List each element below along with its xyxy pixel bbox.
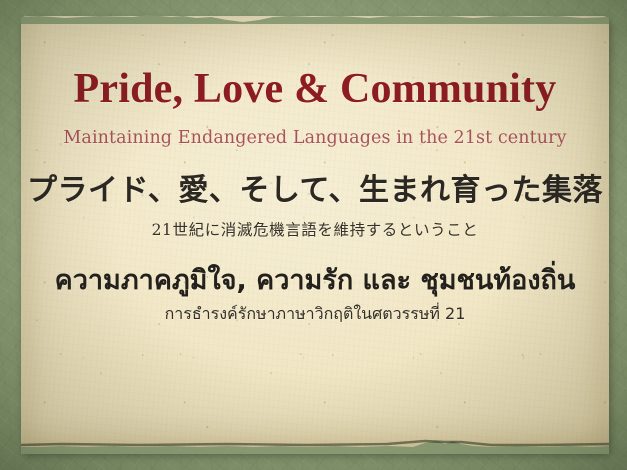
slide-content: Pride, Love & Community Maintaining Enda… (21, 16, 609, 452)
slide-title-english: Pride, Love & Community (74, 68, 557, 110)
paper-surface: Pride, Love & Community Maintaining Enda… (21, 16, 609, 452)
slide-title-japanese: プライド、愛、そして、生まれ育った集落 (27, 174, 603, 208)
slide-subtitle-thai: การธำรงค์รักษาภาษาวิกฤติในศตวรรษที่ 21 (165, 304, 466, 324)
slide-subtitle-japanese: 21世紀に消滅危機言語を維持するということ (152, 222, 479, 240)
slide-title-thai: ความภาคภูมิใจ, ความรัก และ ชุมชนท้องถิ่น (55, 264, 576, 298)
presentation-slide: Pride, Love & Community Maintaining Enda… (0, 0, 627, 470)
slide-subtitle-english: Maintaining Endangered Languages in the … (63, 129, 566, 148)
paper-sheet: Pride, Love & Community Maintaining Enda… (21, 16, 609, 452)
